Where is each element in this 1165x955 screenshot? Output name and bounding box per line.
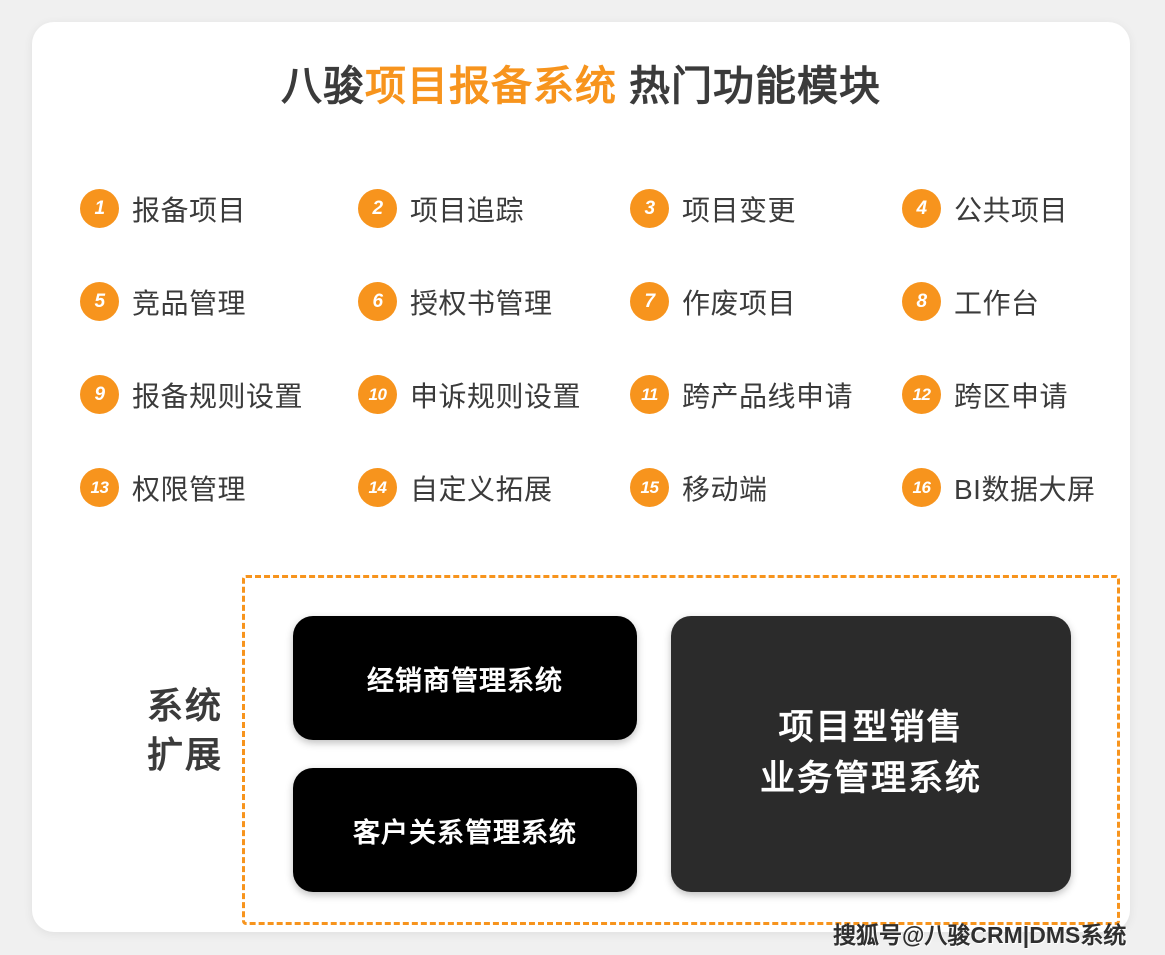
feature-number-badge: 4	[902, 189, 941, 228]
extension-label-line-1: 系统	[120, 682, 250, 731]
feature-item-16[interactable]: 16 BI数据大屏	[902, 468, 1100, 508]
watermark: 搜狐号@八骏CRM|DMS系统	[833, 916, 1126, 950]
feature-label: 跨区申请	[954, 375, 1068, 415]
feature-number-badge: 7	[630, 282, 669, 321]
extension-label-line-2: 扩展	[120, 731, 250, 780]
feature-number-badge: 14	[358, 468, 397, 507]
feature-label: 项目追踪	[410, 189, 524, 229]
extension-block-label: 经销商管理系统	[367, 659, 563, 698]
page-root: 八骏项目报备系统热门功能模块 1 报备项目 2 项目追踪 3 项目变更 4 公共…	[0, 0, 1165, 955]
extension-dashed-container: 经销商管理系统 客户关系管理系统 项目型销售 业务管理系统	[242, 575, 1120, 925]
feature-label: 权限管理	[132, 468, 246, 508]
feature-number-badge: 2	[358, 189, 397, 228]
feature-item-2[interactable]: 2 项目追踪	[358, 189, 630, 229]
feature-label: 申诉规则设置	[410, 375, 581, 415]
highlight-block-line-1: 项目型销售	[778, 703, 963, 754]
feature-item-15[interactable]: 15 移动端	[630, 468, 902, 508]
feature-label: 公共项目	[954, 189, 1068, 229]
highlight-block-line-2: 业务管理系统	[760, 754, 982, 805]
feature-number-badge: 12	[902, 375, 941, 414]
feature-number-badge: 13	[80, 468, 119, 507]
extension-block-label: 客户关系管理系统	[353, 811, 577, 850]
extension-block-dealer-management[interactable]: 经销商管理系统	[293, 616, 637, 740]
feature-item-11[interactable]: 11 跨产品线申请	[630, 375, 902, 415]
feature-number-badge: 6	[358, 282, 397, 321]
extension-section-label: 系统 扩展	[120, 682, 250, 779]
feature-label: 竞品管理	[132, 282, 246, 322]
feature-number-badge: 9	[80, 375, 119, 414]
feature-item-13[interactable]: 13 权限管理	[80, 468, 358, 508]
feature-item-1[interactable]: 1 报备项目	[80, 189, 358, 229]
feature-number-badge: 15	[630, 468, 669, 507]
feature-label: 授权书管理	[410, 282, 553, 322]
feature-label: 跨产品线申请	[682, 375, 853, 415]
feature-item-12[interactable]: 12 跨区申请	[902, 375, 1100, 415]
feature-grid: 1 报备项目 2 项目追踪 3 项目变更 4 公共项目 5 竞品管理 6	[80, 162, 1100, 534]
feature-number-badge: 5	[80, 282, 119, 321]
title-suffix: 热门功能模块	[629, 63, 881, 109]
feature-label: 报备规则设置	[132, 375, 303, 415]
feature-number-badge: 11	[630, 375, 669, 414]
feature-label: 作废项目	[682, 282, 796, 322]
feature-item-6[interactable]: 6 授权书管理	[358, 282, 630, 322]
extension-block-column: 经销商管理系统 客户关系管理系统	[293, 616, 637, 892]
feature-item-7[interactable]: 7 作废项目	[630, 282, 902, 322]
feature-number-badge: 1	[80, 189, 119, 228]
feature-number-badge: 3	[630, 189, 669, 228]
feature-item-9[interactable]: 9 报备规则设置	[80, 375, 358, 415]
feature-item-4[interactable]: 4 公共项目	[902, 189, 1100, 229]
feature-label: 移动端	[682, 468, 768, 508]
main-card: 八骏项目报备系统热门功能模块 1 报备项目 2 项目追踪 3 项目变更 4 公共…	[32, 22, 1130, 932]
feature-number-badge: 16	[902, 468, 941, 507]
page-title: 八骏项目报备系统热门功能模块	[32, 52, 1130, 112]
feature-label: 工作台	[954, 282, 1040, 322]
feature-label: 项目变更	[682, 189, 796, 229]
title-accent: 项目报备系统	[365, 63, 617, 109]
feature-item-3[interactable]: 3 项目变更	[630, 189, 902, 229]
title-prefix: 八骏	[281, 63, 365, 109]
feature-label: 自定义拓展	[410, 468, 553, 508]
feature-item-8[interactable]: 8 工作台	[902, 282, 1100, 322]
feature-item-14[interactable]: 14 自定义拓展	[358, 468, 630, 508]
feature-label: BI数据大屏	[954, 468, 1095, 508]
extension-block-project-sales-system[interactable]: 项目型销售 业务管理系统	[671, 616, 1071, 892]
feature-item-10[interactable]: 10 申诉规则设置	[358, 375, 630, 415]
feature-item-5[interactable]: 5 竞品管理	[80, 282, 358, 322]
feature-label: 报备项目	[132, 189, 246, 229]
feature-number-badge: 10	[358, 375, 397, 414]
extension-block-customer-relationship[interactable]: 客户关系管理系统	[293, 768, 637, 892]
feature-number-badge: 8	[902, 282, 941, 321]
